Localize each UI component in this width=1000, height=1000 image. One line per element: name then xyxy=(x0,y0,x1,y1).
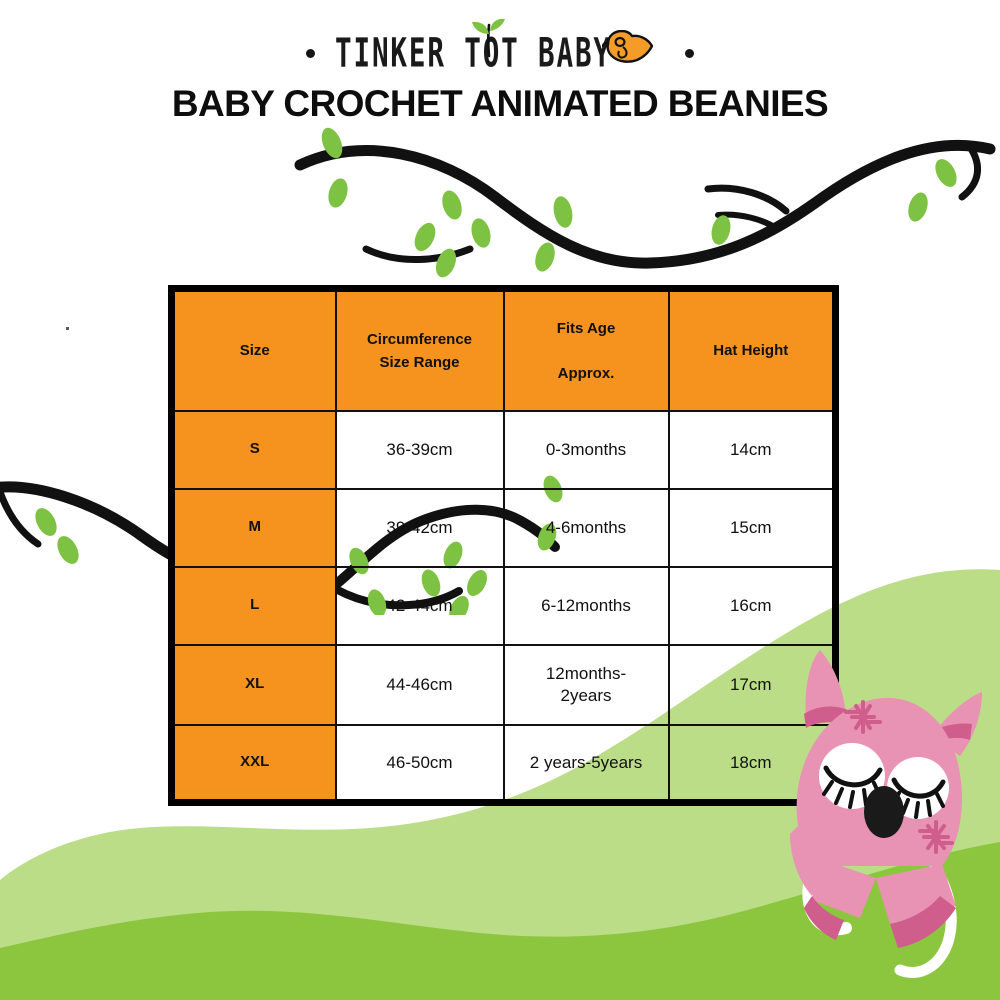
table-body: S 36-39cm 0-3months 14cm M 39-42cm 4-6mo… xyxy=(172,411,836,803)
column-header-circumference-line2: Size Range xyxy=(343,351,497,374)
cell-size: L xyxy=(172,567,336,645)
cell-fits-age: 12months- 2years xyxy=(504,645,669,725)
cell-fits-age-line1: 6-12months xyxy=(505,595,668,616)
cell-fits-age-line1: 4-6months xyxy=(505,517,668,538)
cell-fits-age-line2: 2years xyxy=(505,685,668,706)
table-header-row: Size Circumference Size Range Fits Age xyxy=(172,289,836,411)
cell-fits-age: 2 years-5years xyxy=(504,725,669,803)
cell-size: XL xyxy=(172,645,336,725)
cell-circumference: 39-42cm xyxy=(336,489,504,567)
column-header-fits-age-line2: Approx. xyxy=(511,362,662,385)
column-header-size-label: Size xyxy=(181,339,329,362)
cell-size: M xyxy=(172,489,336,567)
cell-size: XXL xyxy=(172,725,336,803)
column-header-size: Size xyxy=(172,289,336,411)
size-table: Size Circumference Size Range Fits Age xyxy=(168,285,839,806)
column-header-fits-age-line1: Fits Age xyxy=(511,317,662,340)
table-row: S 36-39cm 0-3months 14cm xyxy=(172,411,836,489)
column-header-hat-height: Hat Height xyxy=(669,289,836,411)
cell-hat-height: 15cm xyxy=(669,489,836,567)
table-row: XL 44-46cm 12months- 2years 17cm xyxy=(172,645,836,725)
cell-hat-height: 17cm xyxy=(669,645,836,725)
cell-circumference: 44-46cm xyxy=(336,645,504,725)
cell-fits-age: 0-3months xyxy=(504,411,669,489)
cell-fits-age: 4-6months xyxy=(504,489,669,567)
leafy-branch-icon xyxy=(270,125,1000,290)
leaf-sprout-icon xyxy=(468,18,512,58)
stray-speck xyxy=(66,327,69,330)
brand-dot-right xyxy=(685,49,694,58)
column-header-circumference: Circumference Size Range xyxy=(336,289,504,411)
cell-fits-age-line1: 2 years-5years xyxy=(505,752,668,773)
cell-circumference: 42-44cm xyxy=(336,567,504,645)
bird-chick-icon xyxy=(602,30,654,68)
table-header: Size Circumference Size Range Fits Age xyxy=(172,289,836,411)
cell-hat-height: 16cm xyxy=(669,567,836,645)
cell-hat-height: 18cm xyxy=(669,725,836,803)
size-chart-table: Size Circumference Size Range Fits Age xyxy=(168,285,832,801)
table-row: XXL 46-50cm 2 years-5years 18cm xyxy=(172,725,836,803)
table-row: L 42-44cm 6-12months 16cm xyxy=(172,567,836,645)
cell-fits-age: 6-12months xyxy=(504,567,669,645)
column-header-fits-age: Fits Age Approx. xyxy=(504,289,669,411)
page-title: BABY CROCHET ANIMATED BEANIES xyxy=(0,83,1000,125)
brand-dot-left xyxy=(306,49,315,58)
column-header-hat-height-label: Hat Height xyxy=(676,339,827,362)
cell-fits-age-line1: 12months- xyxy=(505,663,668,684)
cell-circumference: 46-50cm xyxy=(336,725,504,803)
table-row: M 39-42cm 4-6months 15cm xyxy=(172,489,836,567)
cell-circumference: 36-39cm xyxy=(336,411,504,489)
cell-fits-age-line1: 0-3months xyxy=(505,439,668,460)
poster-canvas: TINKER TOT BABY BABY CROCHET ANIMATED BE… xyxy=(0,0,1000,1000)
cell-size: S xyxy=(172,411,336,489)
column-header-circumference-line1: Circumference xyxy=(343,328,497,351)
cell-hat-height: 14cm xyxy=(669,411,836,489)
